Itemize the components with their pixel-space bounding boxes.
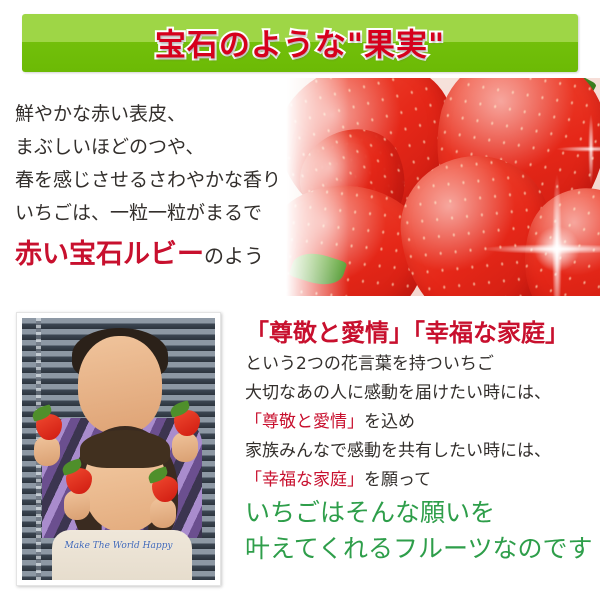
intro-line: 春を感じさせるさわやかな香り	[15, 164, 335, 197]
hand	[150, 498, 176, 528]
banner-title: 宝石のような"果実"	[22, 20, 578, 65]
kids-photo-frame: Make The World Happy	[16, 312, 221, 586]
girl-bangs	[80, 430, 170, 468]
intro-accent-strong: 赤い宝石ルビー	[15, 239, 204, 270]
message-copy: 「尊敬と愛情」「幸福な家庭」 という2つの花言葉を持ついちご 大切なあの人に感動…	[245, 316, 600, 567]
intro-accent-tail: のよう	[204, 244, 264, 268]
intro-line: 鮮やかな赤い表皮、	[15, 98, 335, 131]
message-closing-line: いちごはそんな願いを	[245, 495, 600, 531]
intro-accent-line: 赤い宝石ルビーのよう	[15, 232, 335, 271]
intro-line: いちごは、一粒一粒がまるで	[15, 197, 335, 230]
girl-shirt	[52, 530, 192, 580]
message-line-text: 大切なあの人に感動を届けたい時には、	[245, 383, 551, 403]
message-quoted-phrase: 「尊敬と愛情」	[245, 412, 364, 432]
hand	[172, 432, 198, 462]
hand	[64, 490, 90, 520]
message-line: 「幸福な家庭」を願って	[245, 466, 600, 495]
kids-photo: Make The World Happy	[22, 318, 215, 580]
message-line: 大切なあの人に感動を届けたい時には、	[245, 379, 600, 408]
message-line: 家族みんなで感動を共有したい時には、	[245, 437, 600, 466]
shirt-text: Make The World Happy	[22, 540, 215, 552]
intro-line: まぶしいほどのつや、	[15, 131, 335, 164]
message-line: 「尊敬と愛情」を込め	[245, 408, 600, 437]
message-line-tail: を願って	[364, 470, 431, 490]
message-headline: 「尊敬と愛情」「幸福な家庭」	[245, 316, 600, 350]
message-closing-line: 叶えてくれるフルーツなのです	[245, 531, 600, 567]
boy-face	[78, 336, 162, 434]
promo-page: 宝石のような"果実" 鮮やかな赤い表皮、 まぶしいほどのつや、 春を感じさせるさ…	[0, 0, 600, 600]
intro-copy: 鮮やかな赤い表皮、 まぶしいほどのつや、 春を感じさせるさわやかな香り いちごは…	[15, 98, 335, 271]
message-quoted-phrase: 「幸福な家庭」	[245, 470, 364, 490]
header-banner: 宝石のような"果実"	[22, 14, 578, 72]
hand	[34, 436, 60, 466]
message-line-tail: を込め	[364, 412, 415, 432]
sparkle-icon	[556, 114, 600, 184]
message-line-text: 家族みんなで感動を共有したい時には、	[245, 441, 551, 461]
message-line: という2つの花言葉を持ついちご	[245, 350, 600, 379]
